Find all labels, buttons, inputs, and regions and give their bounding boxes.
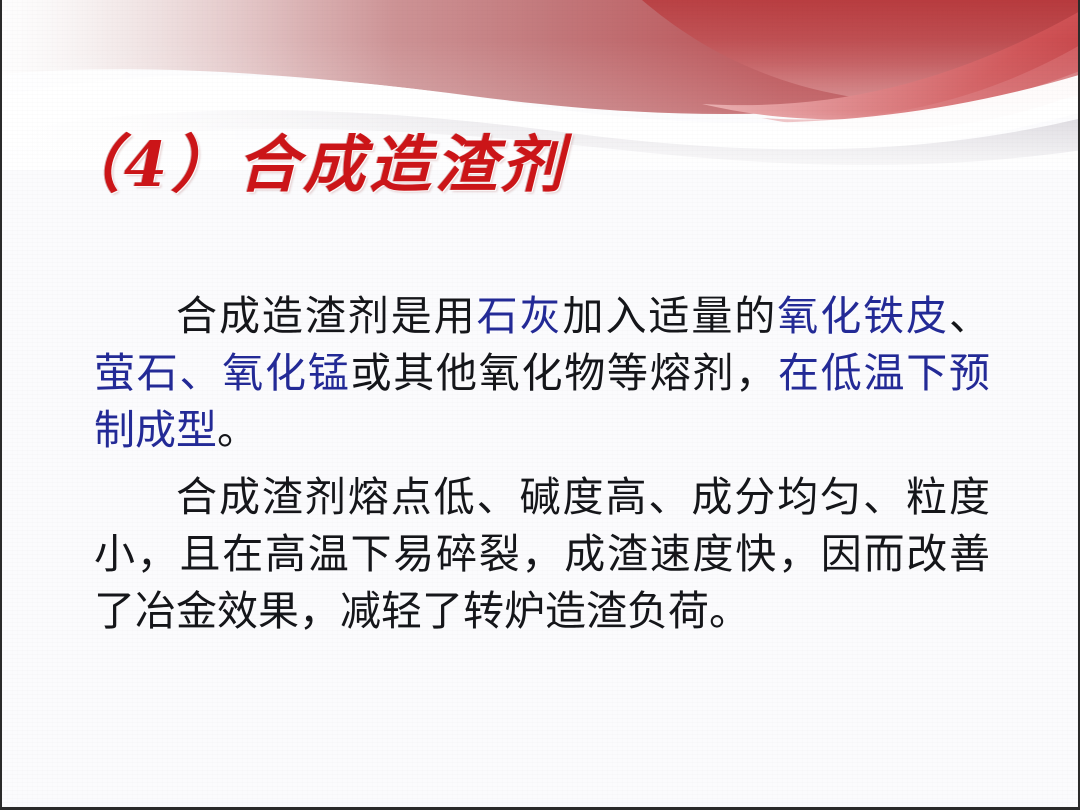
para1-seg-6-fluorite-manganese-oxide: 萤石、氧化锰 [94, 349, 351, 397]
body-content: 合成造渣剂是用石灰加入适量的氧化铁皮、萤石、氧化锰或其他氧化物等熔剂，在低温下预… [94, 288, 990, 646]
para1-seg-1: 合成造渣剂是用 [176, 292, 477, 340]
para1-seg-5: 、 [949, 292, 990, 340]
para1-seg-7: 或其他氧化物等熔剂， [351, 349, 779, 397]
para1-seg-9: 。 [217, 406, 258, 454]
presentation-slide: （4）合成造渣剂 合成造渣剂是用石灰加入适量的氧化铁皮、萤石、氧化锰或其他氧化物… [0, 0, 1080, 810]
paragraph-2: 合成渣剂熔点低、碱度高、成分均匀、粒度小，且在高温下易碎裂，成渣速度快，因而改善… [94, 469, 990, 640]
para1-seg-3: 加入适量的 [563, 292, 778, 340]
title-block: （4）合成造渣剂 [58, 128, 567, 201]
para1-seg-2-lime: 石灰 [477, 292, 563, 340]
para1-seg-4-iron-scale: 氧化铁皮 [777, 292, 949, 340]
paragraph-1: 合成造渣剂是用石灰加入适量的氧化铁皮、萤石、氧化锰或其他氧化物等熔剂，在低温下预… [94, 288, 990, 459]
para2-seg-1: 合成渣剂熔点低、碱度高、成分均匀、粒度小，且在高温下易碎裂，成渣速度快，因而改善… [94, 473, 990, 635]
page-title: （4）合成造渣剂 [58, 128, 567, 201]
